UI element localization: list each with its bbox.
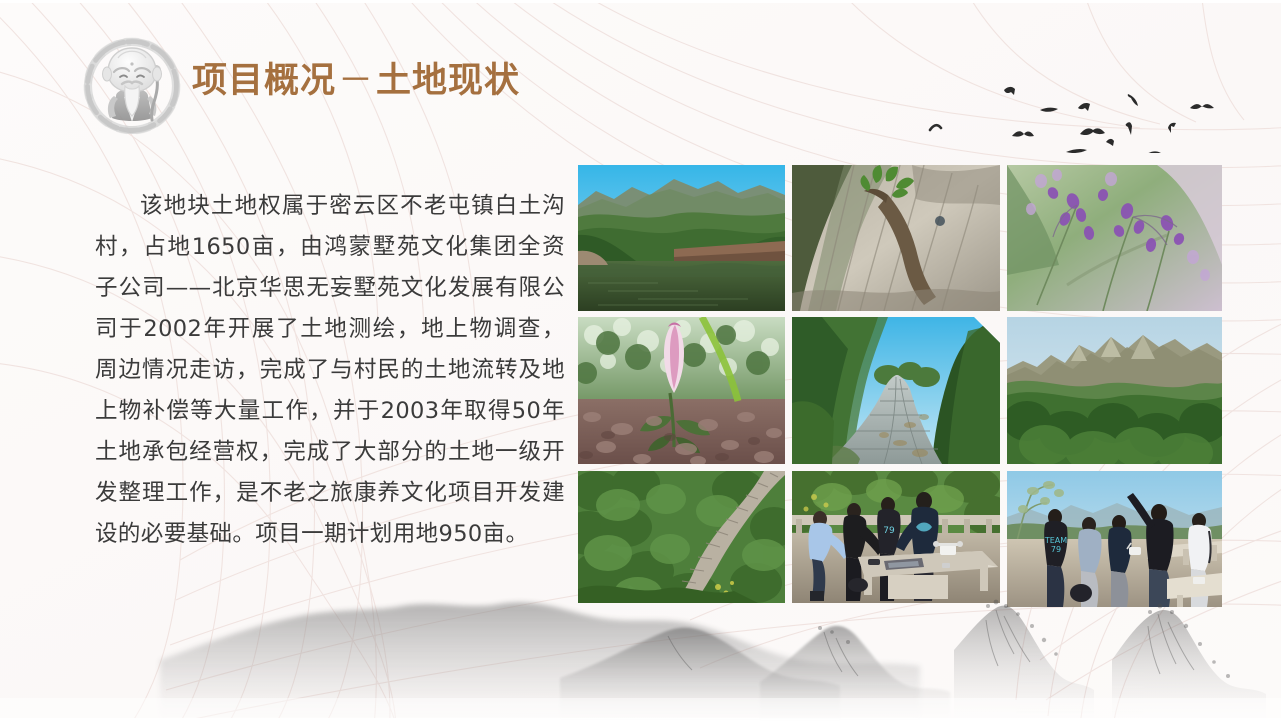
svg-text:TEAM: TEAM <box>1044 536 1067 545</box>
gallery-photo-5[interactable] <box>792 317 1000 464</box>
gallery-photo-4[interactable] <box>578 317 785 464</box>
page-title-sub: 土地现状 <box>376 61 520 101</box>
gallery-photo-1[interactable] <box>578 165 785 311</box>
gallery-photo-6[interactable] <box>1007 317 1222 464</box>
page-title: 项目概况－土地现状 <box>192 52 520 103</box>
slide-canvas: 项目概况－土地现状 该地块土地权属于密云区不老屯镇白土沟村，占地1650亩，由鸿… <box>0 0 1281 721</box>
page-title-dash: － <box>338 61 374 101</box>
svg-text:79: 79 <box>883 526 895 536</box>
gallery-photo-2[interactable] <box>792 165 1000 311</box>
elder-seal-logo <box>80 34 184 138</box>
svg-text:79: 79 <box>1051 545 1061 554</box>
page-title-main: 项目概况 <box>192 61 336 101</box>
body-paragraph: 该地块土地权属于密云区不老屯镇白土沟村，占地1650亩，由鸿蒙墅苑文化集团全资子… <box>95 186 565 555</box>
gallery-photo-3[interactable] <box>1007 165 1222 311</box>
slide-header: 项目概况－土地现状 <box>0 0 1281 150</box>
photo-gallery: 79 <box>578 165 1222 605</box>
gallery-photo-9[interactable]: TEAM 79 <box>1007 471 1222 607</box>
gallery-photo-7[interactable] <box>578 471 785 603</box>
gallery-photo-8[interactable]: 79 <box>792 471 1000 603</box>
